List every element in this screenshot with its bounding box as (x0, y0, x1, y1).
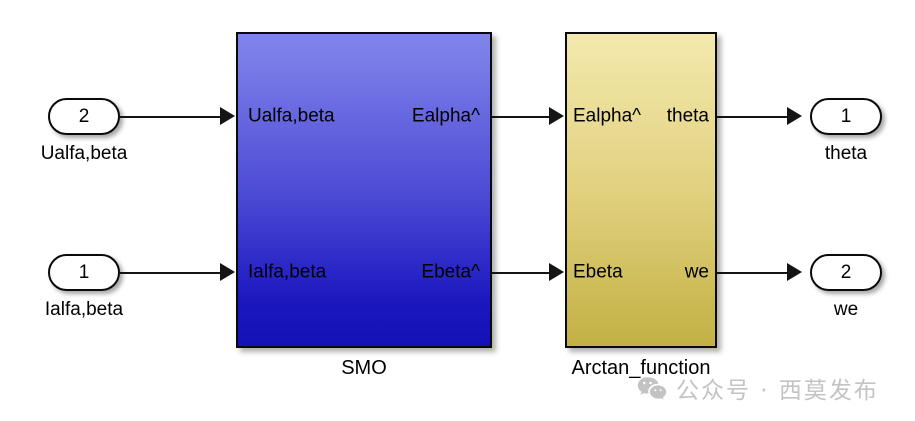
outport-caption-we: we (782, 300, 910, 319)
arctan-output-label-we: we (589, 263, 709, 282)
arrow-icon-smo-in2 (220, 263, 235, 281)
arrow-icon-smo-in1 (220, 107, 235, 125)
signal-line-ealpha (492, 116, 549, 118)
outport-block-2[interactable]: 2 (810, 254, 882, 291)
arctan-output-label-theta: theta (589, 107, 709, 126)
inport-number: 2 (79, 107, 90, 126)
arrow-icon-outport-theta (787, 107, 802, 125)
smo-output-label-ebeta: Ebeta^ (300, 263, 480, 282)
inport-caption-ualfa-beta: Ualfa,beta (0, 144, 168, 163)
wechat-icon (637, 376, 667, 406)
outport-caption-theta: theta (782, 144, 910, 163)
signal-line-theta (717, 116, 787, 118)
signal-line-ialfa-beta (120, 272, 220, 274)
signal-line-ebeta (492, 272, 549, 274)
block-smo[interactable] (236, 32, 492, 348)
outport-number: 2 (841, 263, 852, 282)
watermark-text: 公众号 · 西莫发布 (676, 380, 879, 403)
block-caption-smo: SMO (236, 358, 492, 378)
arrow-icon-arctan-in1 (549, 107, 564, 125)
arrow-icon-arctan-in2 (549, 263, 564, 281)
inport-block-1[interactable]: 1 (48, 254, 120, 291)
outport-number: 1 (841, 107, 852, 126)
signal-line-we (717, 272, 787, 274)
inport-number: 1 (79, 263, 90, 282)
block-diagram-canvas: 2 Ualfa,beta 1 Ialfa,beta Ualfa,beta Ial… (0, 0, 915, 421)
block-arctan-function[interactable] (565, 32, 717, 348)
block-caption-arctan-function: Arctan_function (541, 358, 741, 378)
inport-caption-ialfa-beta: Ialfa,beta (0, 300, 168, 319)
watermark: 公众号 · 西莫发布 (637, 376, 879, 406)
inport-block-2[interactable]: 2 (48, 98, 120, 135)
signal-line-ualfa-beta (120, 116, 220, 118)
smo-output-label-ealpha: Ealpha^ (300, 107, 480, 126)
outport-block-1[interactable]: 1 (810, 98, 882, 135)
arrow-icon-outport-we (787, 263, 802, 281)
